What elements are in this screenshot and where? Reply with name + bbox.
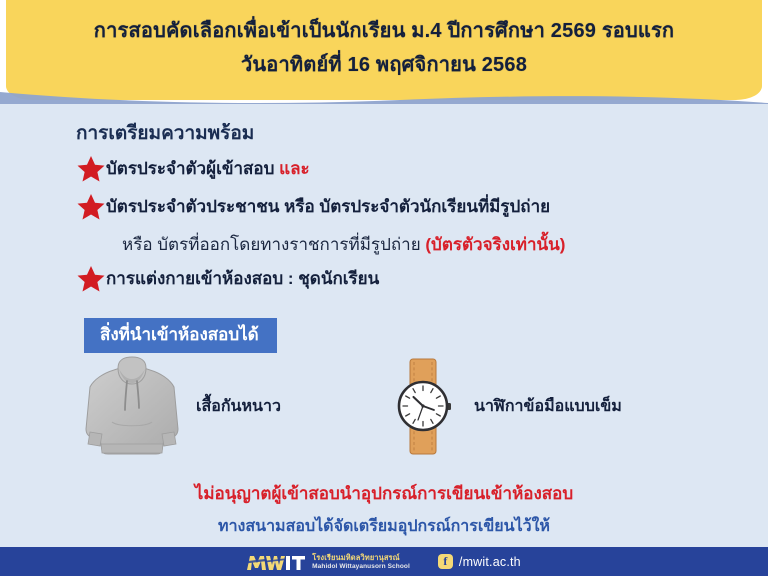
- page-title-line-2: วันอาทิตย์ที่ 16 พฤศจิกายน 2568: [0, 48, 768, 82]
- page-title: การสอบคัดเลือกเพื่อเข้าเป็นนักเรียน ม.4 …: [0, 14, 768, 82]
- facebook-link[interactable]: f /mwit.ac.th: [438, 554, 521, 569]
- school-name-th: โรงเรียนมหิดลวิทยานุสรณ์: [312, 553, 410, 562]
- star-icon: [76, 154, 106, 184]
- mwit-logo-icon: [247, 552, 305, 572]
- page-title-line-1: การสอบคัดเลือกเพื่อเข้าเป็นนักเรียน ม.4 …: [0, 14, 768, 48]
- list-item-text: บัตรประจำตัวประชาชน หรือ บัตรประจำตัวนัก…: [106, 190, 550, 224]
- facebook-handle[interactable]: /mwit.ac.th: [459, 555, 521, 569]
- poster-root: การสอบคัดเลือกเพื่อเข้าเป็นนักเรียน ม.4 …: [0, 0, 768, 576]
- facebook-icon[interactable]: f: [438, 554, 453, 569]
- list-item-main: บัตรประจำตัวผู้เข้าสอบ: [106, 159, 279, 178]
- allowed-item-label: เสื้อกันหนาว: [196, 394, 281, 419]
- allowed-item-hoodie: เสื้อกันหนาว: [84, 356, 281, 456]
- footer: โรงเรียนมหิดลวิทยานุสรณ์ Mahidol Wittaya…: [0, 547, 768, 576]
- hoodie-icon: [84, 356, 180, 456]
- list-item-emphasis: และ: [279, 159, 310, 178]
- list-item: บัตรประจำตัวผู้เข้าสอบ และ: [76, 152, 746, 186]
- analog-wristwatch-icon: [388, 356, 458, 456]
- allowed-items-row: เสื้อกันหนาว: [76, 356, 716, 466]
- list-item: บัตรประจำตัวประชาชน หรือ บัตรประจำตัวนัก…: [76, 190, 746, 262]
- preparation-list: บัตรประจำตัวผู้เข้าสอบ และ บัตรประจำตัวป…: [76, 152, 746, 300]
- header: การสอบคัดเลือกเพื่อเข้าเป็นนักเรียน ม.4 …: [0, 0, 768, 118]
- star-icon: [76, 192, 106, 222]
- allowed-item-watch: นาฬิกาข้อมือแบบเข็ม: [388, 356, 622, 456]
- list-item-text: บัตรประจำตัวผู้เข้าสอบ และ: [106, 152, 310, 186]
- note-tools-provided: ทางสนามสอบได้จัดเตรียมอุปกรณ์การเขียนไว้…: [0, 514, 768, 539]
- school-branding: โรงเรียนมหิดลวิทยานุสรณ์ Mahidol Wittaya…: [247, 552, 410, 572]
- allowed-item-label: นาฬิกาข้อมือแบบเข็ม: [474, 394, 622, 419]
- warning-no-writing-tools: ไม่อนุญาตผู้เข้าสอบนำอุปกรณ์การเขียนเข้า…: [0, 480, 768, 507]
- school-name-block: โรงเรียนมหิดลวิทยานุสรณ์ Mahidol Wittaya…: [312, 553, 410, 571]
- list-item-subtext-main: หรือ บัตรที่ออกโดยทางราชการที่มีรูปถ่าย: [122, 235, 425, 254]
- star-icon: [76, 264, 106, 294]
- list-item-text: การแต่งกายเข้าห้องสอบ : ชุดนักเรียน: [106, 262, 379, 296]
- allowed-items-label: สิ่งที่นำเข้าห้องสอบได้: [84, 318, 277, 353]
- section-heading-preparation: การเตรียมความพร้อม: [76, 118, 254, 148]
- content-area: การเตรียมความพร้อม บัตรประจำตัวผู้เข้าสอ…: [0, 104, 768, 547]
- list-item: การแต่งกายเข้าห้องสอบ : ชุดนักเรียน: [76, 262, 746, 296]
- school-name-en: Mahidol Wittayanusorn School: [312, 562, 410, 571]
- list-item-subtext-emphasis: (บัตรตัวจริงเท่านั้น): [425, 235, 565, 254]
- list-item-subtext: หรือ บัตรที่ออกโดยทางราชการที่มีรูปถ่าย …: [122, 228, 746, 262]
